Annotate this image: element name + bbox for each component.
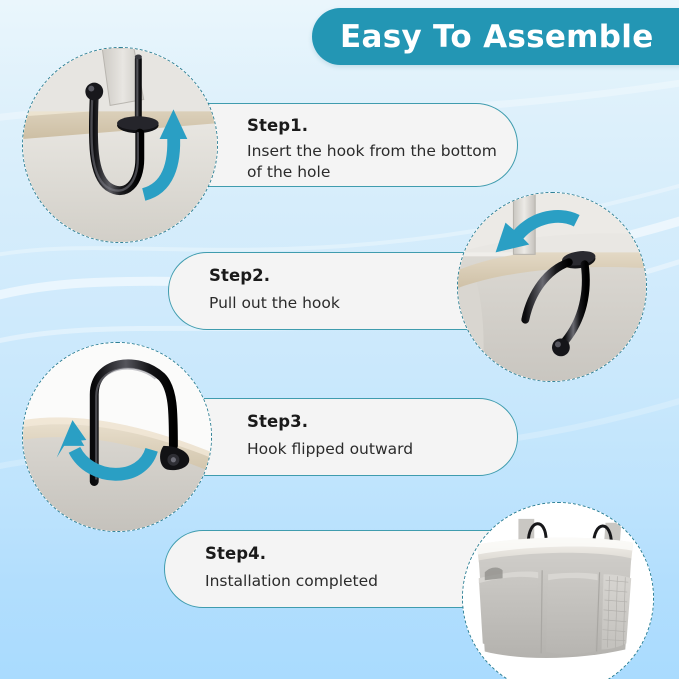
step-title-2: Step2. <box>209 266 270 285</box>
header-banner: Easy To Assemble <box>312 8 679 65</box>
hook-inserted-through-hole-photo <box>22 47 218 243</box>
step-card-1: Step1. Insert the hook from the bottom o… <box>168 103 518 187</box>
step-title-1: Step1. <box>247 116 308 135</box>
step-title-4: Step4. <box>205 544 266 563</box>
hook-pulled-out-photo <box>457 192 647 382</box>
hook-flipped-outward-photo <box>22 342 212 532</box>
step-title-3: Step3. <box>247 412 308 431</box>
step-description-3: Hook flipped outward <box>247 439 507 460</box>
step-description-4: Installation completed <box>205 571 465 592</box>
installed-bedside-organizer-photo <box>462 502 654 679</box>
step-description-2: Pull out the hook <box>209 293 469 314</box>
step-card-3: Step3. Hook flipped outward <box>168 398 518 476</box>
page-title: Easy To Assemble <box>340 19 654 55</box>
infographic-canvas: Easy To Assemble Step1. Insert the hook … <box>0 0 679 679</box>
step-description-1: Insert the hook from the bottom of the h… <box>247 141 507 183</box>
